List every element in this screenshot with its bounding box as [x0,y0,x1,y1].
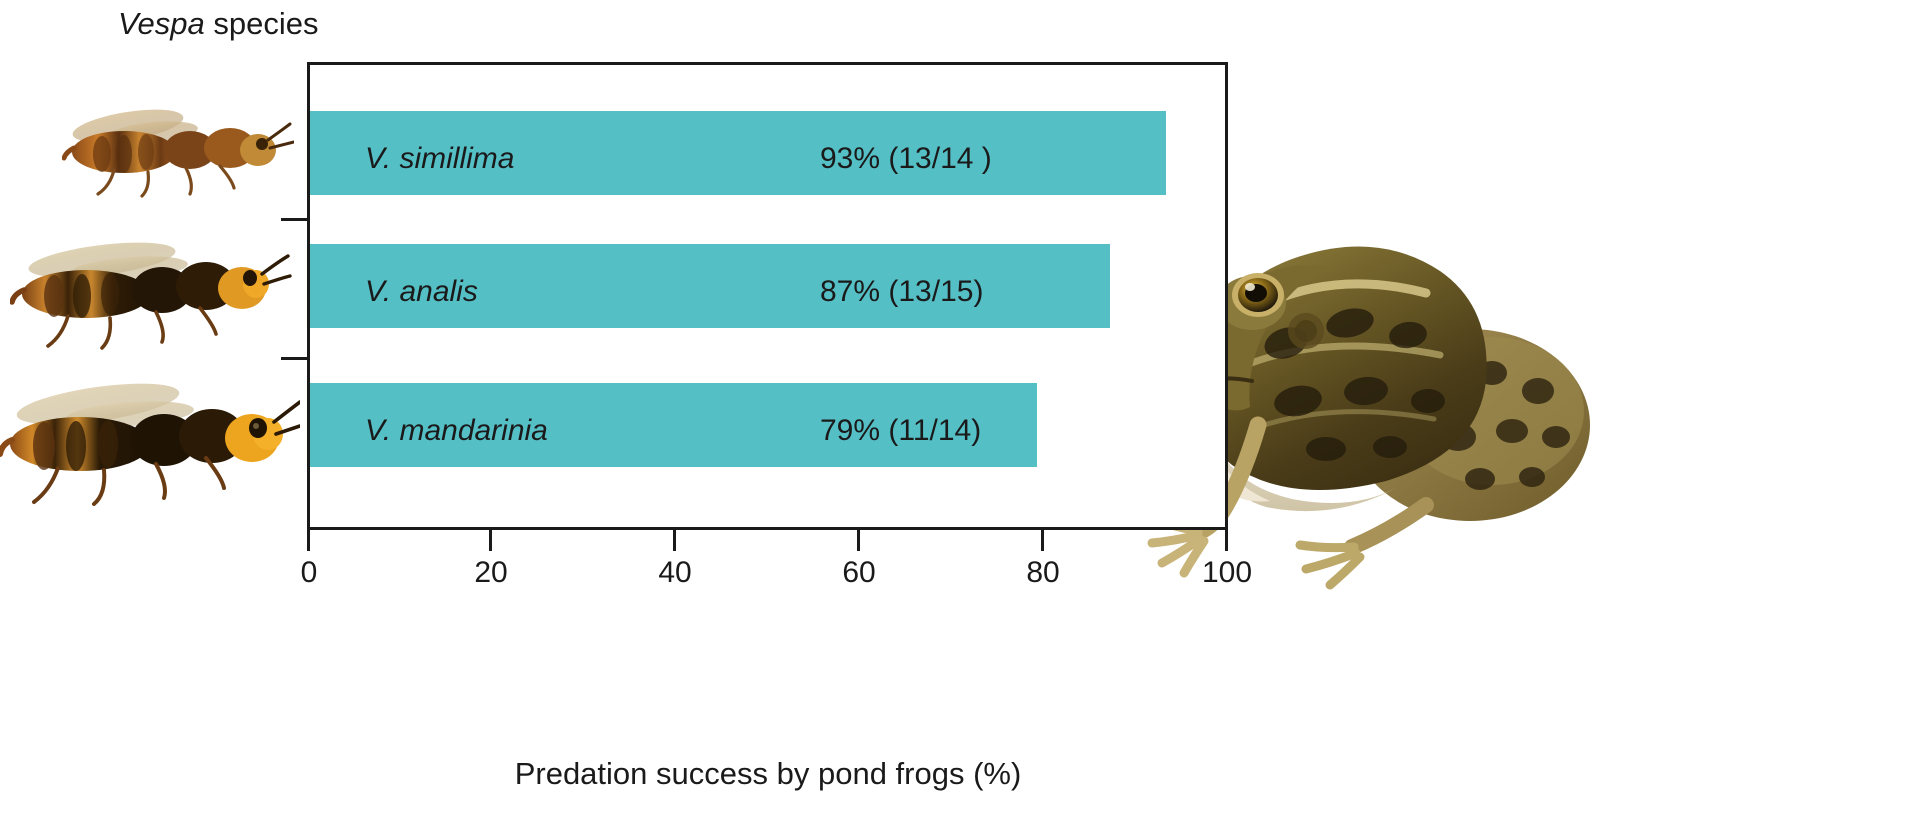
x-tick-0 [307,530,310,551]
x-tick-label-20: 20 [474,556,507,590]
bar-value-v-simillima: 93% (13/14 ) [820,144,992,174]
x-axis: 0 20 40 60 80 100 [307,530,1228,650]
bar-label-v-mandarinia: V. mandarinia [365,416,548,446]
x-tick-label-0: 0 [301,556,318,590]
hornet-vespa-analis-photo [10,228,292,356]
plot-area: V. simillima 93% (13/14 ) V. analis 87% … [307,62,1228,530]
bar-value-v-mandarinia: 79% (11/14) [820,416,981,446]
x-tick-100 [1225,530,1228,551]
x-tick-80 [1041,530,1044,551]
bars-container: V. simillima 93% (13/14 ) V. analis 87% … [310,65,1225,527]
x-tick-label-80: 80 [1026,556,1059,590]
bar-value-v-analis: 87% (13/15) [820,277,983,307]
figure-root: Vespa species [0,0,1920,818]
hornet-vespa-simillima-photo [62,96,294,204]
page-title-genus: Vespa [118,6,205,41]
page-title: Vespa species [118,6,318,42]
x-tick-label-100: 100 [1202,556,1252,590]
x-tick-label-40: 40 [658,556,691,590]
hornet-vespa-mandarinia-photo [0,366,300,518]
category-tick-2 [281,357,307,360]
bar-label-v-analis: V. analis [365,277,478,307]
x-tick-20 [489,530,492,551]
x-tick-label-60: 60 [842,556,875,590]
x-axis-title: Predation success by pond frogs (%) [0,756,1536,792]
x-tick-40 [673,530,676,551]
x-tick-60 [857,530,860,551]
category-tick-1 [281,218,307,221]
bar-label-v-simillima: V. simillima [365,144,514,174]
page-title-rest: species [205,6,319,41]
